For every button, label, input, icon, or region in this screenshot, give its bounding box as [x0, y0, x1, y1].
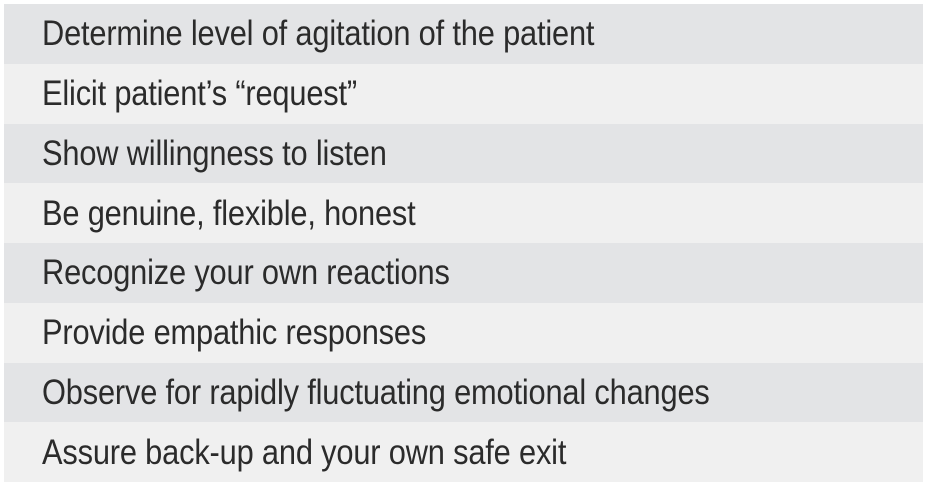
bulleted-list: Determine level of agitation of the pati… — [4, 4, 923, 482]
list-item[interactable]: Recognize your own reactions — [4, 243, 923, 303]
slide-canvas: Determine level of agitation of the pati… — [0, 0, 929, 482]
list-item-label: Assure back-up and your own safe exit — [42, 434, 566, 471]
list-item-label: Elicit patient’s “request” — [42, 75, 357, 112]
list-item[interactable]: Observe for rapidly fluctuating emotiona… — [4, 363, 923, 423]
list-item[interactable]: Elicit patient’s “request” — [4, 64, 923, 124]
list-item[interactable]: Show willingness to listen — [4, 124, 923, 184]
list-item[interactable]: Assure back-up and your own safe exit — [4, 422, 923, 482]
list-item[interactable]: Provide empathic responses — [4, 303, 923, 363]
list-item-label: Show willingness to listen — [42, 135, 387, 172]
list-item[interactable]: Be genuine, flexible, honest — [4, 183, 923, 243]
list-item-label: Be genuine, flexible, honest — [42, 195, 416, 232]
list-item-label: Provide empathic responses — [42, 314, 426, 351]
list-item-label: Recognize your own reactions — [42, 254, 450, 291]
list-item-label: Observe for rapidly fluctuating emotiona… — [42, 374, 710, 411]
list-item[interactable]: Determine level of agitation of the pati… — [4, 4, 923, 64]
list-item-label: Determine level of agitation of the pati… — [42, 15, 594, 52]
